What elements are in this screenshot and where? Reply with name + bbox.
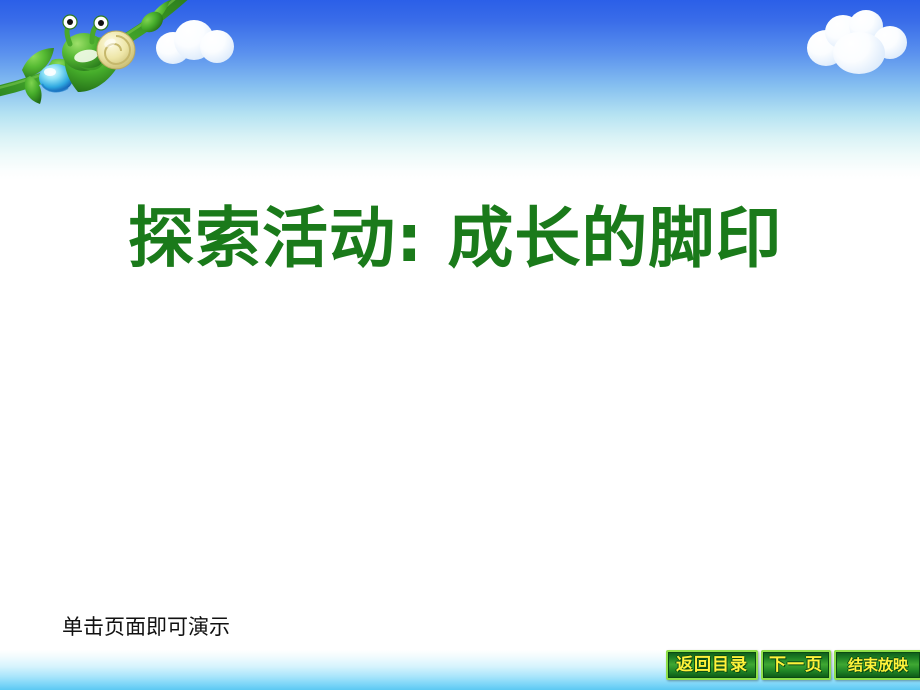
next-page-label: 下一页 bbox=[769, 657, 823, 674]
next-page-button[interactable]: 下一页 bbox=[761, 650, 831, 680]
click-hint-text: 单击页面即可演示 bbox=[62, 617, 230, 638]
end-show-button[interactable]: 结束放映 bbox=[834, 650, 920, 680]
slide-title: 探索活动: 成长的脚印 bbox=[128, 206, 782, 272]
back-to-contents-label: 返回目录 bbox=[676, 657, 748, 674]
back-to-contents-button[interactable]: 返回目录 bbox=[666, 650, 758, 680]
end-show-label: 结束放映 bbox=[848, 658, 908, 673]
slide-navigation-bar: 返回目录 下一页 结束放映 bbox=[666, 650, 920, 680]
vine-snail-illustration bbox=[0, 0, 220, 115]
presentation-slide[interactable]: 探索活动: 成长的脚印 单击页面即可演示 返回目录 下一页 结束放映 bbox=[0, 0, 920, 690]
